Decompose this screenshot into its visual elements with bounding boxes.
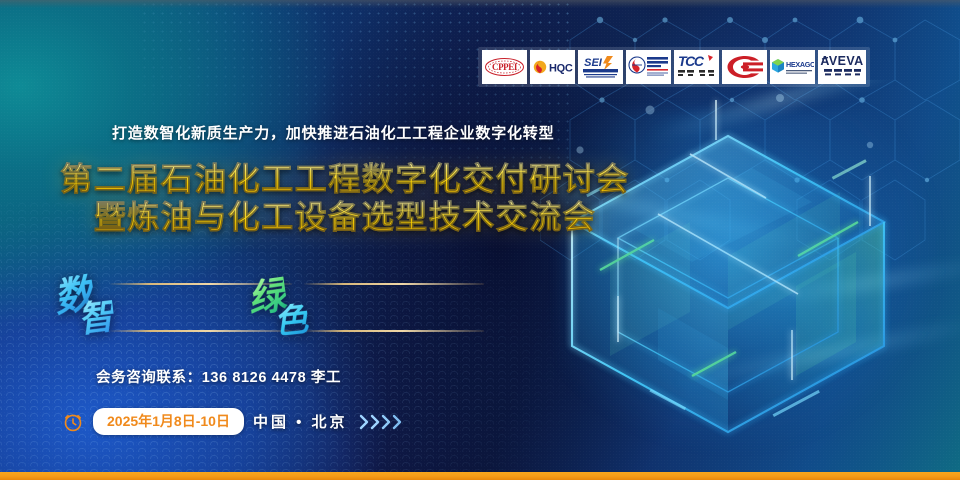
logo-tcc[interactable]: TCC <box>674 50 719 84</box>
logo-aveva[interactable]: AVEVA <box>818 50 866 84</box>
svg-text:AVEVA: AVEVA <box>820 54 863 68</box>
slogan-segment-2: 引领发展 <box>310 290 438 334</box>
hqc-logo-mark: HQC <box>531 53 574 81</box>
slogan-rule-top-right <box>304 283 484 285</box>
conference-banner: CPPEI HQC SEI <box>0 0 960 480</box>
svg-text:HQC: HQC <box>549 63 573 75</box>
contact-info: 会务咨询联系：136 8126 4478 李工 <box>96 366 341 387</box>
svg-text:TCC: TCC <box>678 53 705 69</box>
svg-text:CPPEI: CPPEI <box>492 62 518 72</box>
slogan-segment-1: 驱动转型 <box>114 290 242 334</box>
cnooc-eng-logo-mark <box>627 52 670 82</box>
tcc-logo-mark: TCC <box>675 52 718 82</box>
slogan-brush-char-zhi: 智 <box>76 298 116 338</box>
event-title-line-2: 暨炼油与化工设备选型技术交流会 <box>0 200 690 234</box>
chevron-right-icon <box>359 413 370 431</box>
logo-cnooc-eng[interactable] <box>626 50 671 84</box>
event-slogan: 驱动转型 引领发展 数 智 绿 色 <box>52 272 482 348</box>
logo-sei[interactable]: SEI <box>578 50 623 84</box>
event-title-block: 第二届石油化工工程数字化交付研讨会 暨炼油与化工设备选型技术交流会 <box>0 162 690 234</box>
hexagon-logo-mark: HEXAGON <box>771 53 814 81</box>
cppei-logo-mark: CPPEI <box>483 52 526 82</box>
top-edge-shadow <box>0 0 960 8</box>
logo-hexagon[interactable]: HEXAGON <box>770 50 815 84</box>
sinopec-logo-mark <box>725 53 765 81</box>
svg-text:HEXAGON: HEXAGON <box>786 60 814 69</box>
bottom-accent-bar <box>0 472 960 480</box>
event-date-badge: 2025年1月8日-10日 <box>93 408 244 435</box>
aveva-logo-mark: AVEVA <box>819 52 865 82</box>
date-location-row: 2025年1月8日-10日 中国 • 北京 <box>62 408 403 435</box>
chevron-right-icon <box>370 413 381 431</box>
logo-sinopec[interactable] <box>722 50 767 84</box>
clock-icon <box>62 411 84 433</box>
slogan-brush-char-se: 色 <box>272 302 309 339</box>
event-location: 中国 • 北京 <box>253 411 348 432</box>
event-subtitle: 打造数智化新质生产力，加快推进石油化工工程企业数字化转型 <box>112 122 554 143</box>
sponsor-logo-strip: CPPEI HQC SEI <box>478 47 870 87</box>
svg-text:SEI: SEI <box>584 57 603 69</box>
chevron-right-icon <box>381 413 392 431</box>
logo-cppei[interactable]: CPPEI <box>482 50 527 84</box>
isometric-cube-graphic <box>540 80 960 480</box>
event-title-line-1: 第二届石油化工工程数字化交付研讨会 <box>0 162 690 196</box>
logo-hqc[interactable]: HQC <box>530 50 575 84</box>
sei-logo-mark: SEI <box>579 52 622 82</box>
chevron-right-icon <box>392 413 403 431</box>
chevron-arrows <box>359 413 403 431</box>
